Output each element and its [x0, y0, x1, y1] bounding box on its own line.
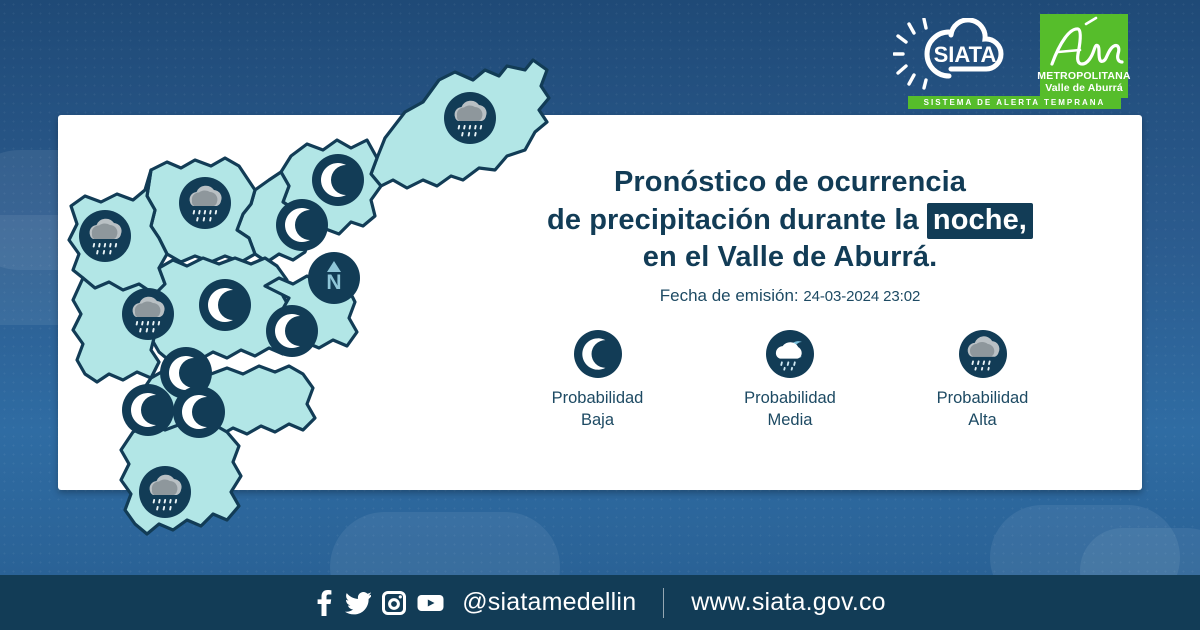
tagline-bar: SISTEMA DE ALERTA TEMPRANA: [908, 96, 1121, 109]
footer-divider: [663, 588, 664, 618]
marker-barbosa: [444, 92, 496, 144]
marker-medellin-norte: [79, 210, 131, 262]
instagram-icon[interactable]: [382, 591, 406, 615]
twitter-icon[interactable]: [345, 591, 371, 615]
marker-itagui: [266, 305, 318, 357]
marker-caldas-norte: [173, 386, 225, 438]
legend-label-media: Probabilidad Media: [703, 387, 878, 432]
legend-item-baja: Probabilidad Baja: [510, 330, 685, 432]
infographic-root: N Pronóstico de ocurrencia de precipitac…: [0, 0, 1200, 630]
area-metropolitana-logo: METROPOLITANA Valle de Aburrá: [1040, 14, 1128, 98]
moon-icon: [574, 330, 622, 378]
marker-medellin-centro: [199, 279, 251, 331]
legend-label-media-line1: Probabilidad: [703, 387, 878, 409]
legend-item-media: Probabilidad Media: [703, 330, 878, 432]
issue-date: Fecha de emisión: 24-03-2024 23:02: [470, 286, 1110, 306]
youtube-icon[interactable]: [417, 593, 444, 613]
title-line-3: en el Valle de Aburrá.: [470, 239, 1110, 277]
footer-bar: @siatamedellin www.siata.gov.co: [0, 575, 1200, 630]
social-icons: [314, 590, 444, 616]
legend-label-baja: Probabilidad Baja: [510, 387, 685, 432]
issue-date-value: 24-03-2024 23:02: [803, 288, 920, 305]
legend-label-alta-line1: Probabilidad: [895, 387, 1070, 409]
compass-rose-icon: [308, 252, 360, 304]
marker-girardota: [312, 154, 364, 206]
title-highlight: noche,: [927, 203, 1033, 239]
issue-date-label: Fecha de emisión:: [660, 286, 799, 305]
cloud-moon-rain-icon: [766, 330, 814, 378]
siata-wordmark: SIATA: [934, 42, 997, 67]
legend-label-alta-line2: Alta: [895, 409, 1070, 431]
legend-label-baja-line2: Baja: [510, 409, 685, 431]
marker-caldas: [139, 466, 191, 518]
logo-group: SIATA METROPOLITANA Valle de Aburrá: [893, 14, 1128, 106]
facebook-icon[interactable]: [314, 590, 334, 616]
legend-label-media-line2: Media: [703, 409, 878, 431]
title-line-2: de precipitación durante la noche,: [470, 202, 1110, 240]
cloud-rain-icon: [959, 330, 1007, 378]
legend-item-alta: Probabilidad Alta: [895, 330, 1070, 432]
legend-label-baja-line1: Probabilidad: [510, 387, 685, 409]
marker-envigado: [122, 288, 174, 340]
area-logo-line2: Valle de Aburrá: [1045, 82, 1123, 94]
title-line-2-text: de precipitación durante la: [547, 204, 927, 236]
website-url[interactable]: www.siata.gov.co: [691, 588, 885, 617]
legend-label-alta: Probabilidad Alta: [895, 387, 1070, 432]
marker-bello: [179, 177, 231, 229]
social-handle[interactable]: @siatamedellin: [462, 588, 636, 617]
area-script-icon: [1040, 16, 1128, 74]
probability-legend: Probabilidad Baja: [470, 330, 1110, 432]
title-line-1: Pronóstico de ocurrencia: [470, 164, 1110, 202]
marker-copacabana: [276, 199, 328, 251]
siata-logo: SIATA: [893, 18, 1033, 90]
page-title: Pronóstico de ocurrencia de precipitació…: [470, 164, 1110, 277]
marker-la-estrella: [122, 384, 174, 436]
